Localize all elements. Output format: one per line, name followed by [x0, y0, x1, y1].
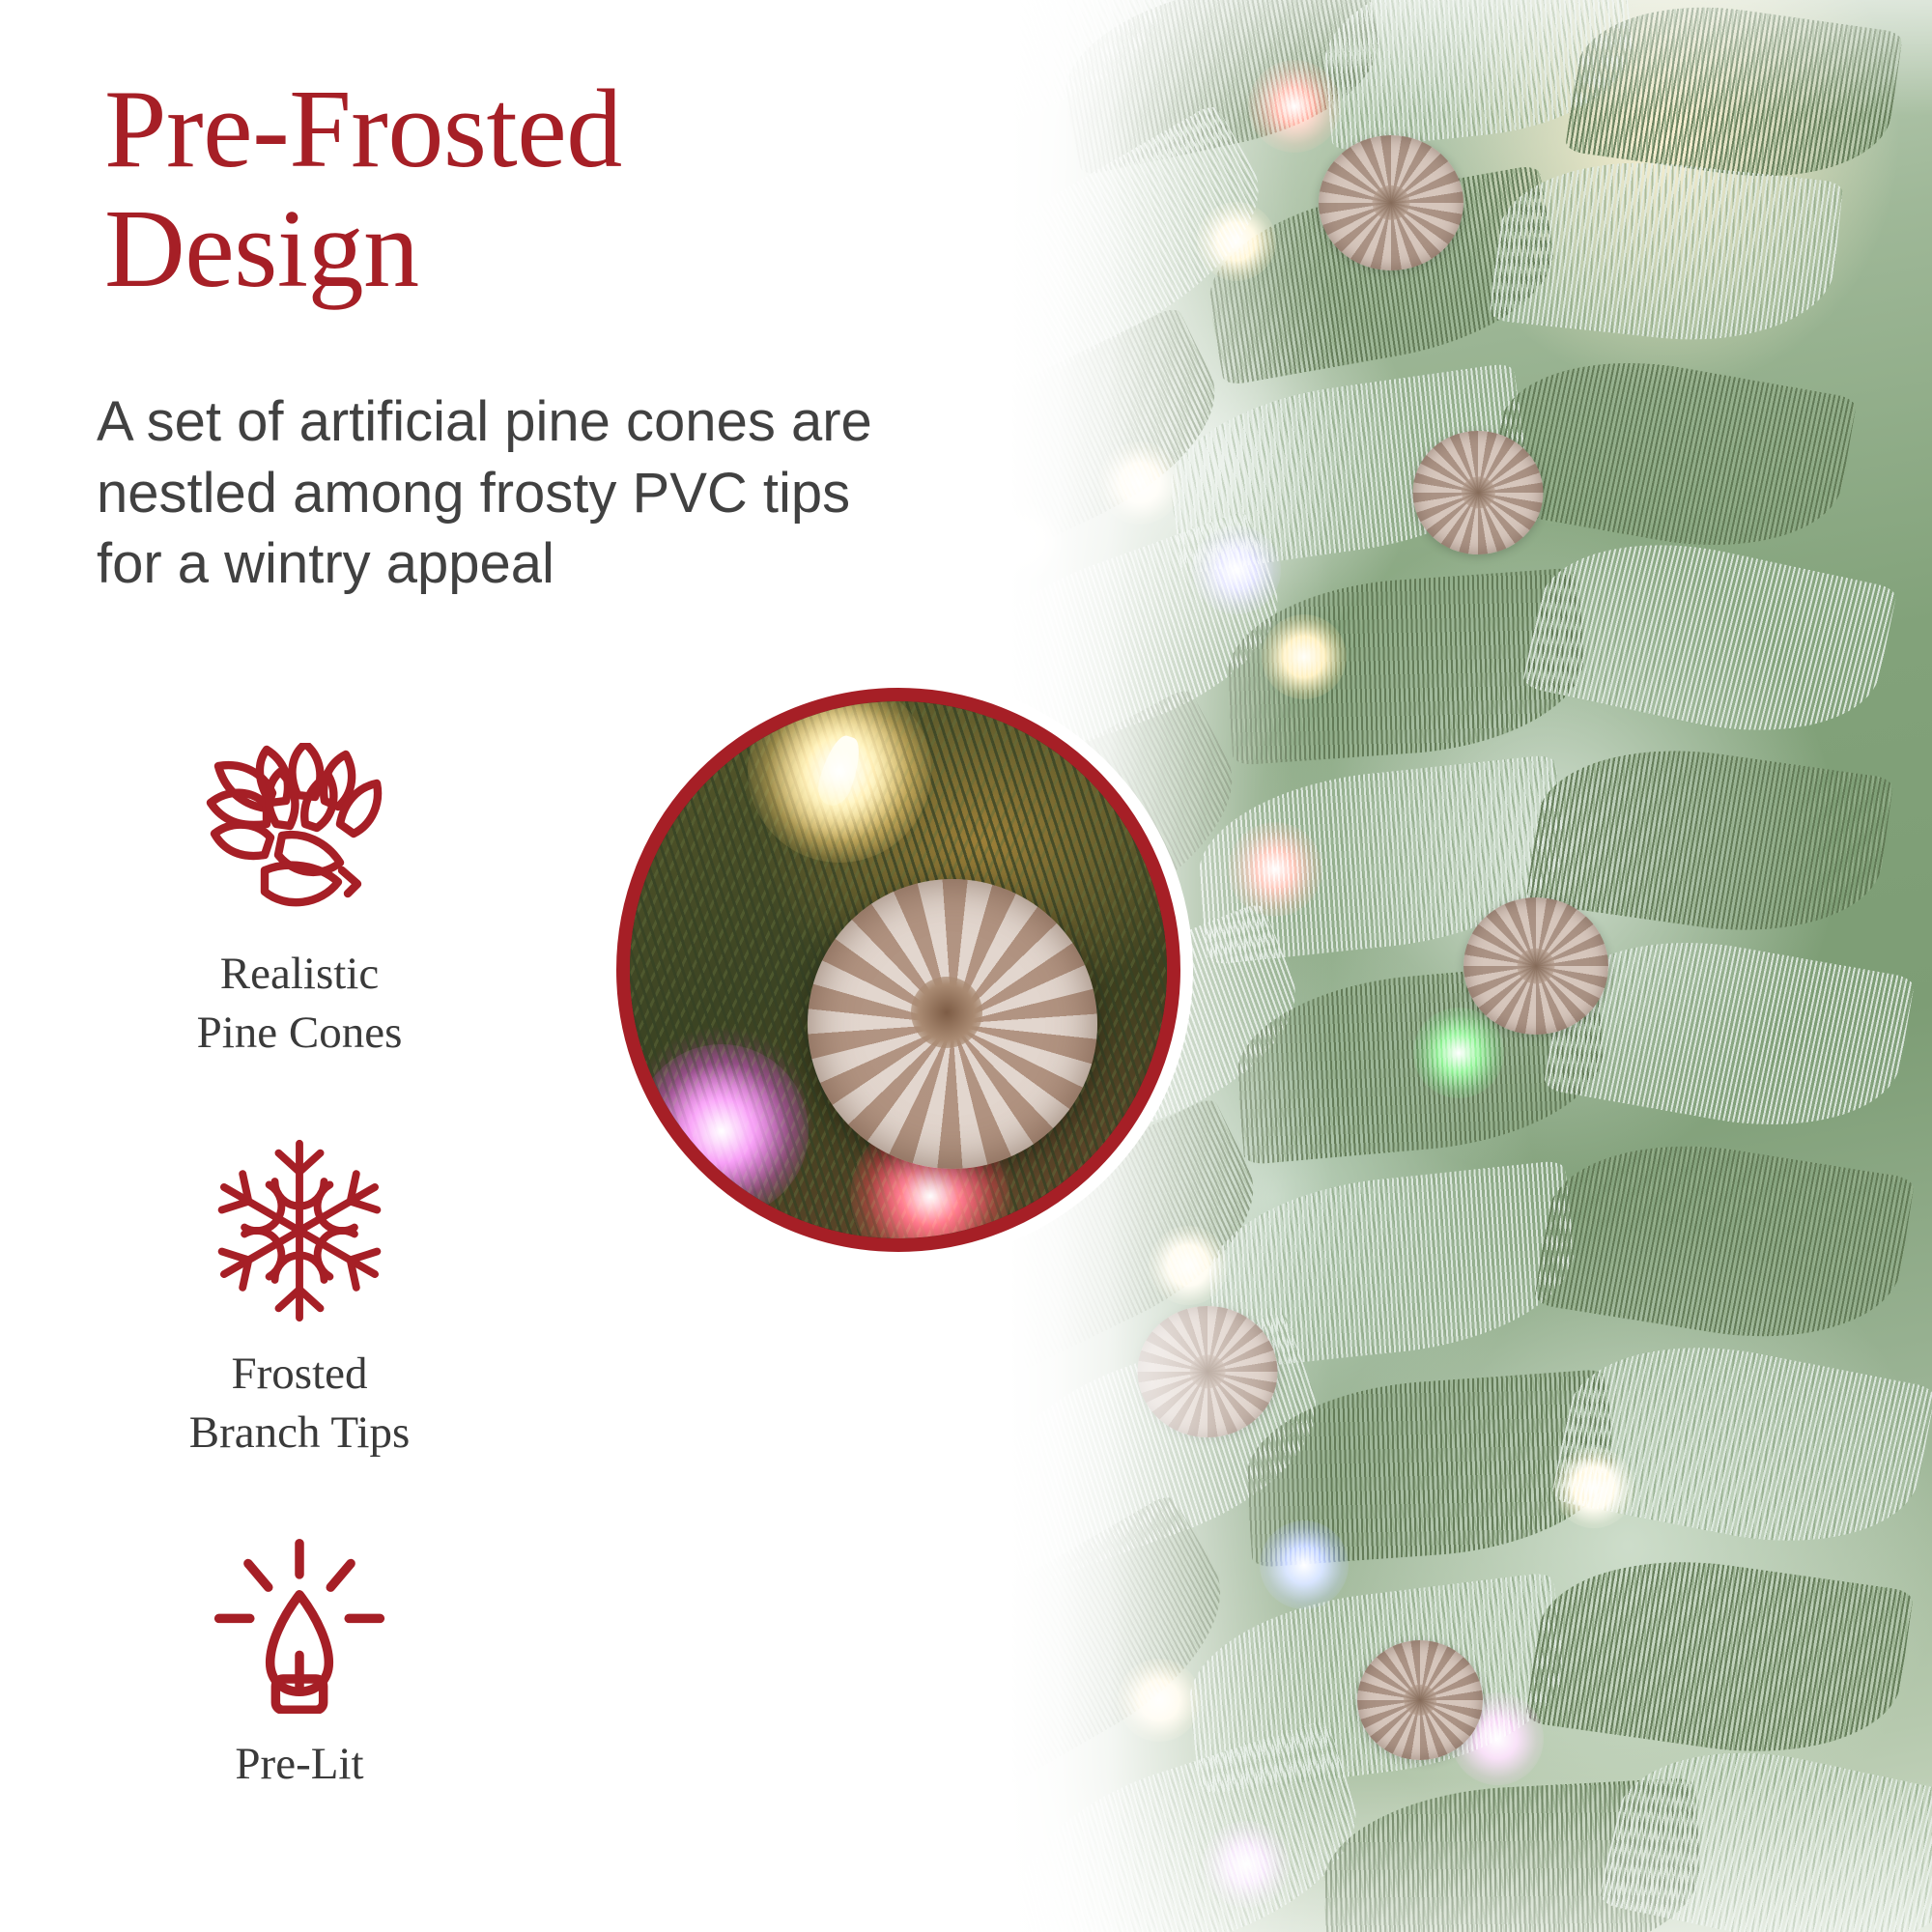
- light-bulb-warm: [1197, 202, 1276, 281]
- snowflake-icon: [87, 1134, 512, 1327]
- page-subtitle: A set of artificial pine cones are nestl…: [97, 386, 927, 600]
- light-bulb-blue: [1260, 1520, 1349, 1609]
- inset-light-purple: [635, 1044, 809, 1218]
- tree-pine-cone: [1357, 1640, 1483, 1760]
- light-bulb-green: [1413, 1008, 1504, 1098]
- light-bulb-warm: [1098, 441, 1181, 525]
- feature-frosted-branch-tips: Frosted Branch Tips: [87, 1134, 512, 1463]
- feature-label: Frosted Branch Tips: [87, 1345, 512, 1463]
- page-title: Pre-Frosted Design: [104, 70, 896, 309]
- inset-photo-circle: [616, 688, 1180, 1252]
- feature-pre-lit: Pre-Lit: [87, 1534, 512, 1794]
- light-bulb-purple: [1203, 1821, 1290, 1908]
- light-bulb-warm: [1118, 1659, 1201, 1742]
- feature-label: Realistic Pine Cones: [87, 945, 512, 1063]
- light-bulb-warm: [1553, 1447, 1634, 1528]
- feature-realistic-pine-cones: Realistic Pine Cones: [87, 734, 512, 1063]
- pine-cone-icon: [87, 734, 512, 927]
- light-bulb-warm: [1262, 614, 1347, 699]
- tree-pine-cone: [1319, 135, 1463, 270]
- inset-light-warm: [748, 688, 931, 863]
- inset-photo-image: [630, 701, 1167, 1238]
- tree-pine-cone: [1138, 1306, 1278, 1437]
- marketing-image-canvas: Pre-Frosted Design A set of artificial p…: [0, 0, 1932, 1932]
- feature-label: Pre-Lit: [87, 1735, 512, 1794]
- light-bulb-red: [1228, 822, 1322, 917]
- light-bulb-warm: [986, 503, 1062, 579]
- feature-list: Realistic Pine Cones: [87, 734, 512, 1865]
- tree-pine-cone: [1413, 431, 1544, 554]
- light-bulb-icon: [87, 1534, 512, 1718]
- inset-pine-cone: [808, 879, 1097, 1169]
- light-bulb-red: [1248, 60, 1341, 153]
- tree-pine-cone: [1463, 897, 1608, 1035]
- light-bulb-purple: [1192, 526, 1281, 614]
